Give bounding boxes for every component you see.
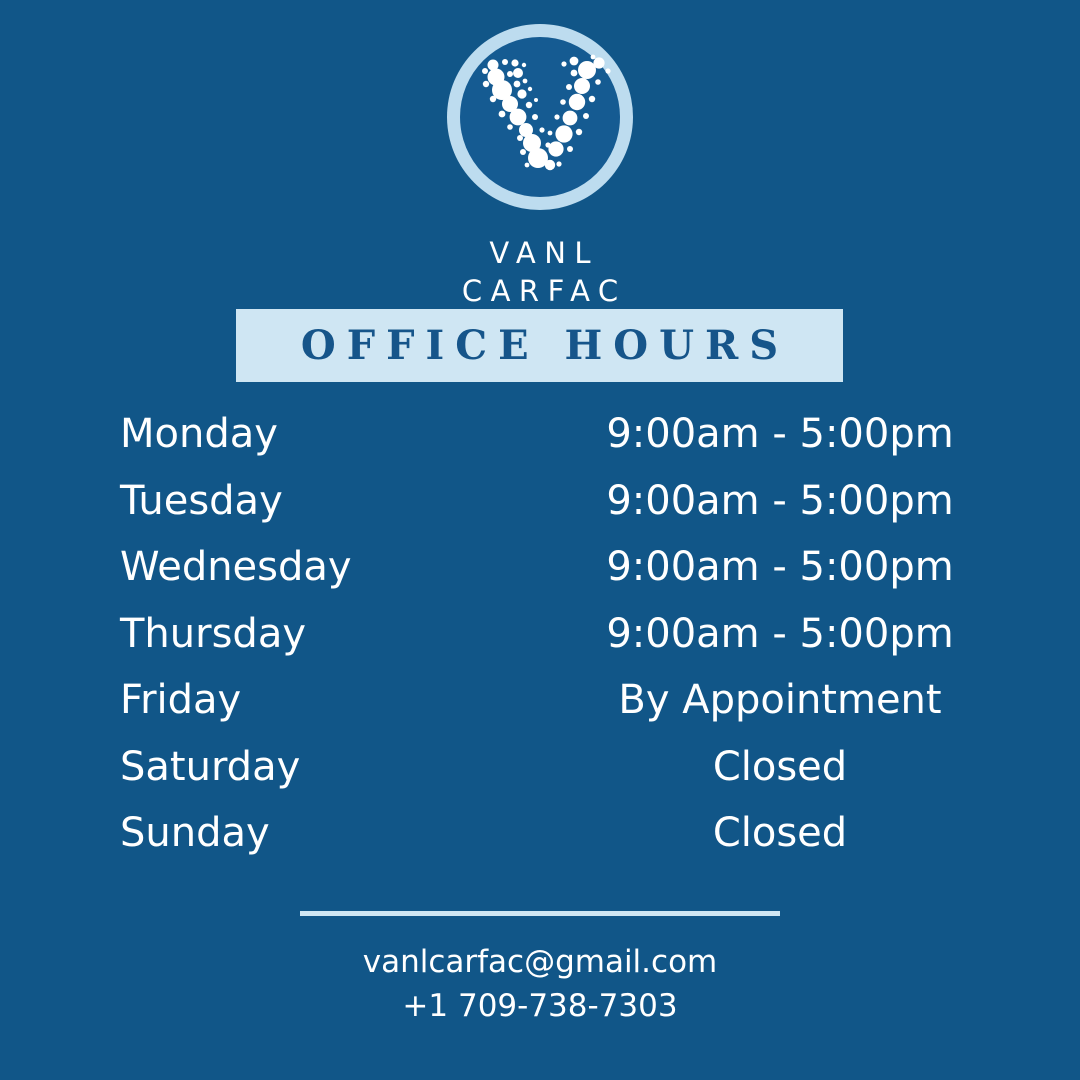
logo-disc — [460, 37, 620, 197]
time-value: 9:00am - 5:00pm — [600, 414, 960, 454]
brand-name: VANL CARFAC — [453, 234, 626, 311]
time-value: 9:00am - 5:00pm — [600, 481, 960, 521]
day-label: Wednesday — [120, 547, 600, 587]
day-label: Sunday — [120, 813, 600, 853]
page-title: OFFICE HOURS — [290, 322, 789, 369]
contact-email[interactable]: vanlcarfac@gmail.com — [0, 940, 1080, 984]
time-value: 9:00am - 5:00pm — [600, 547, 960, 587]
time-value: By Appointment — [600, 680, 960, 720]
day-label: Tuesday — [120, 481, 600, 521]
table-row: Wednesday 9:00am - 5:00pm — [120, 547, 960, 614]
office-hours-list: Monday 9:00am - 5:00pm Tuesday 9:00am - … — [120, 414, 960, 880]
time-value: Closed — [600, 813, 960, 853]
brand-line-2: CARFAC — [453, 272, 626, 310]
day-label: Monday — [120, 414, 600, 454]
title-banner: OFFICE HOURS — [236, 309, 843, 382]
day-label: Saturday — [120, 747, 600, 787]
table-row: Saturday Closed — [120, 747, 960, 814]
logo-block: VANL CARFAC — [0, 24, 1080, 311]
table-row: Thursday 9:00am - 5:00pm — [120, 614, 960, 681]
day-label: Thursday — [120, 614, 600, 654]
time-value: Closed — [600, 747, 960, 787]
office-hours-poster: VANL CARFAC OFFICE HOURS Monday 9:00am -… — [0, 0, 1080, 1080]
table-row: Tuesday 9:00am - 5:00pm — [120, 481, 960, 548]
contact-block: vanlcarfac@gmail.com +1 709-738-7303 — [0, 940, 1080, 1029]
logo-ring — [447, 24, 633, 210]
table-row: Monday 9:00am - 5:00pm — [120, 414, 960, 481]
contact-phone[interactable]: +1 709-738-7303 — [0, 984, 1080, 1028]
time-value: 9:00am - 5:00pm — [600, 614, 960, 654]
dotted-v-icon — [460, 37, 620, 197]
brand-line-1: VANL — [453, 234, 626, 272]
table-row: Sunday Closed — [120, 813, 960, 880]
day-label: Friday — [120, 680, 600, 720]
table-row: Friday By Appointment — [120, 680, 960, 747]
divider — [300, 911, 780, 916]
